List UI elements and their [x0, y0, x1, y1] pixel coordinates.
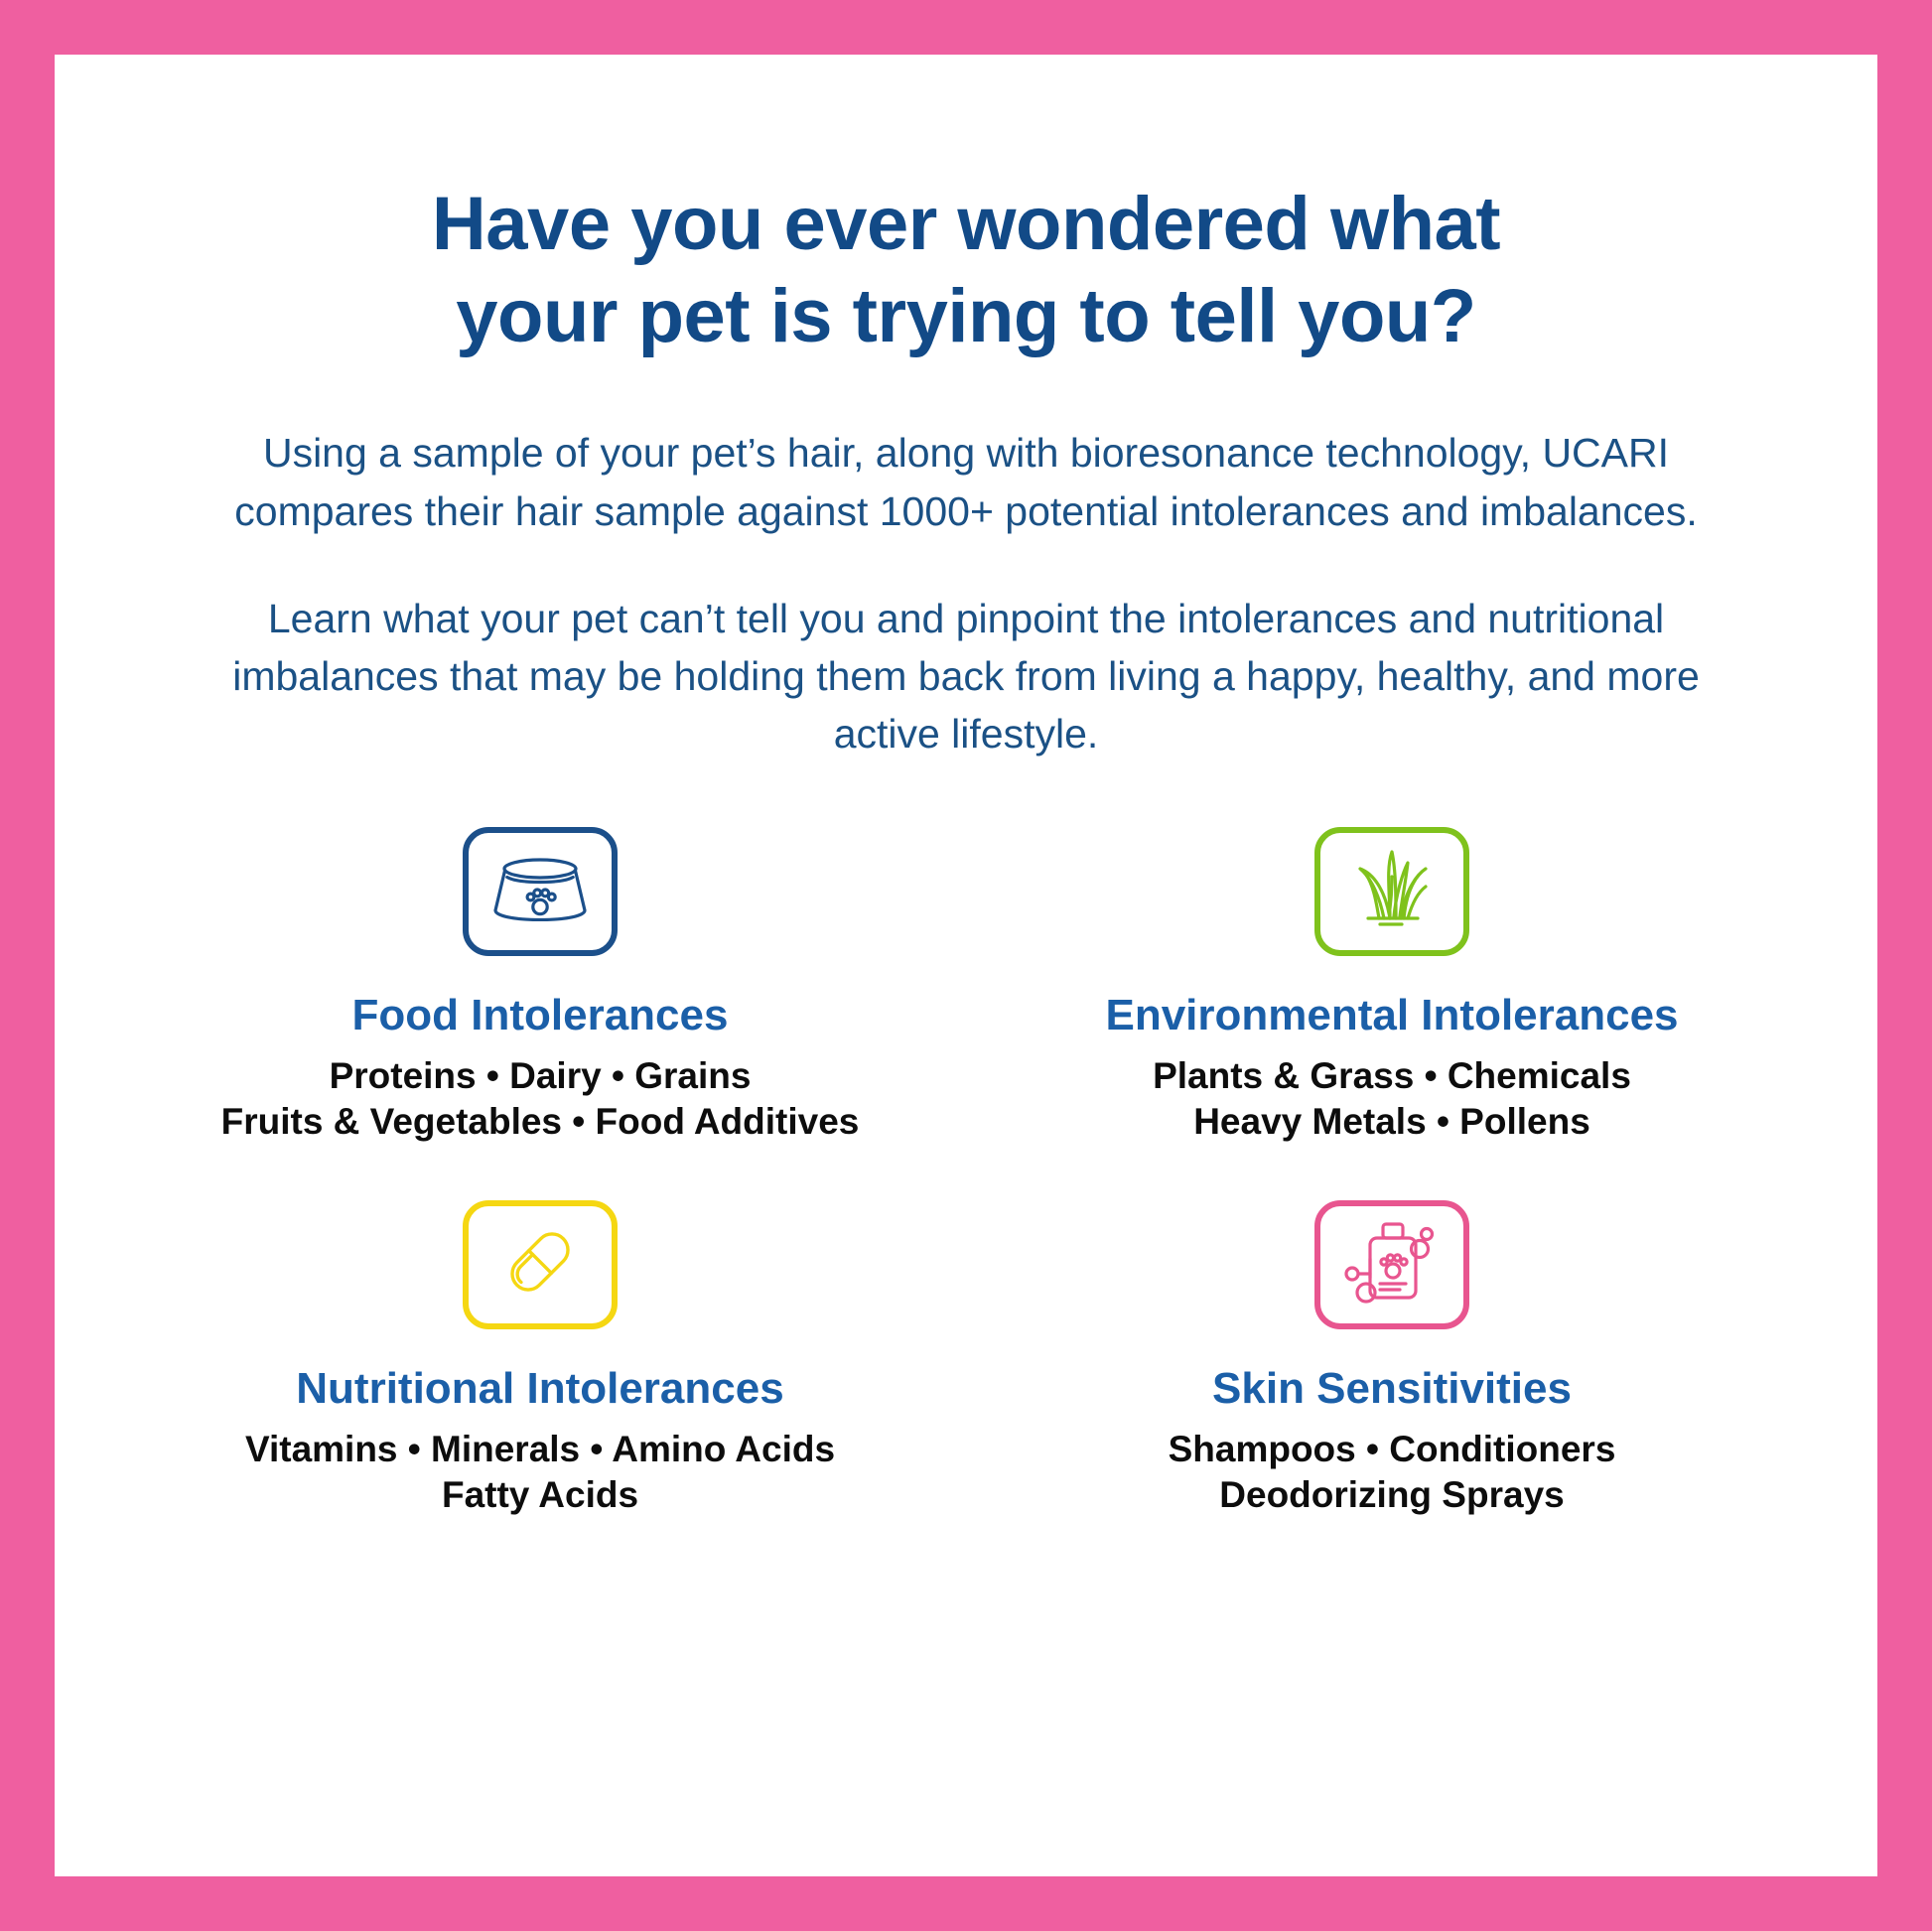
dog-food-bowl-icon-box [463, 827, 618, 956]
category-nutritional-intolerances: Nutritional Intolerances Vitamins • Mine… [114, 1200, 966, 1518]
category-environmental-intolerances: Environmental Intolerances Plants & Gras… [966, 827, 1818, 1145]
grass-icon-box [1314, 827, 1469, 956]
category-items-line-1: Proteins • Dairy • Grains [114, 1053, 966, 1099]
category-items-line-2: Heavy Metals • Pollens [966, 1099, 1818, 1145]
category-grid: Food Intolerances Proteins • Dairy • Gra… [55, 827, 1877, 1518]
category-items: Vitamins • Minerals • Amino Acids Fatty … [114, 1427, 966, 1518]
body-paragraph-2: Learn what your pet can’t tell you and p… [184, 590, 1748, 763]
category-items: Proteins • Dairy • Grains Fruits & Veget… [114, 1053, 966, 1145]
category-title: Skin Sensitivities [966, 1365, 1818, 1413]
category-items-line-1: Shampoos • Conditioners [966, 1427, 1818, 1472]
category-items-line-1: Plants & Grass • Chemicals [966, 1053, 1818, 1099]
promo-card: Have you ever wondered what your pet is … [55, 55, 1877, 1876]
category-items: Shampoos • Conditioners Deodorizing Spra… [966, 1427, 1818, 1518]
headline-line-2: your pet is trying to tell you? [204, 271, 1728, 363]
category-items: Plants & Grass • Chemicals Heavy Metals … [966, 1053, 1818, 1145]
page-title: Have you ever wondered what your pet is … [55, 179, 1877, 362]
headline-line-1: Have you ever wondered what [432, 182, 1500, 266]
category-food-intolerances: Food Intolerances Proteins • Dairy • Gra… [114, 827, 966, 1145]
category-title: Environmental Intolerances [966, 992, 1818, 1039]
category-title: Food Intolerances [114, 992, 966, 1039]
category-title: Nutritional Intolerances [114, 1365, 966, 1413]
category-skin-sensitivities: Skin Sensitivities Shampoos • Conditione… [966, 1200, 1818, 1518]
dog-food-bowl-icon [492, 856, 588, 926]
pill-capsule-icon [498, 1220, 582, 1309]
shampoo-bottle-icon-box [1314, 1200, 1469, 1329]
category-items-line-2: Fruits & Vegetables • Food Additives [114, 1099, 966, 1145]
grass-icon [1346, 847, 1438, 935]
category-items-line-2: Fatty Acids [114, 1472, 966, 1518]
category-items-line-2: Deodorizing Sprays [966, 1472, 1818, 1518]
body-paragraph-1: Using a sample of your pet’s hair, along… [184, 424, 1748, 539]
shampoo-bottle-icon [1344, 1218, 1440, 1310]
body-copy: Using a sample of your pet’s hair, along… [55, 424, 1877, 762]
category-items-line-1: Vitamins • Minerals • Amino Acids [114, 1427, 966, 1472]
pill-capsule-icon-box [463, 1200, 618, 1329]
